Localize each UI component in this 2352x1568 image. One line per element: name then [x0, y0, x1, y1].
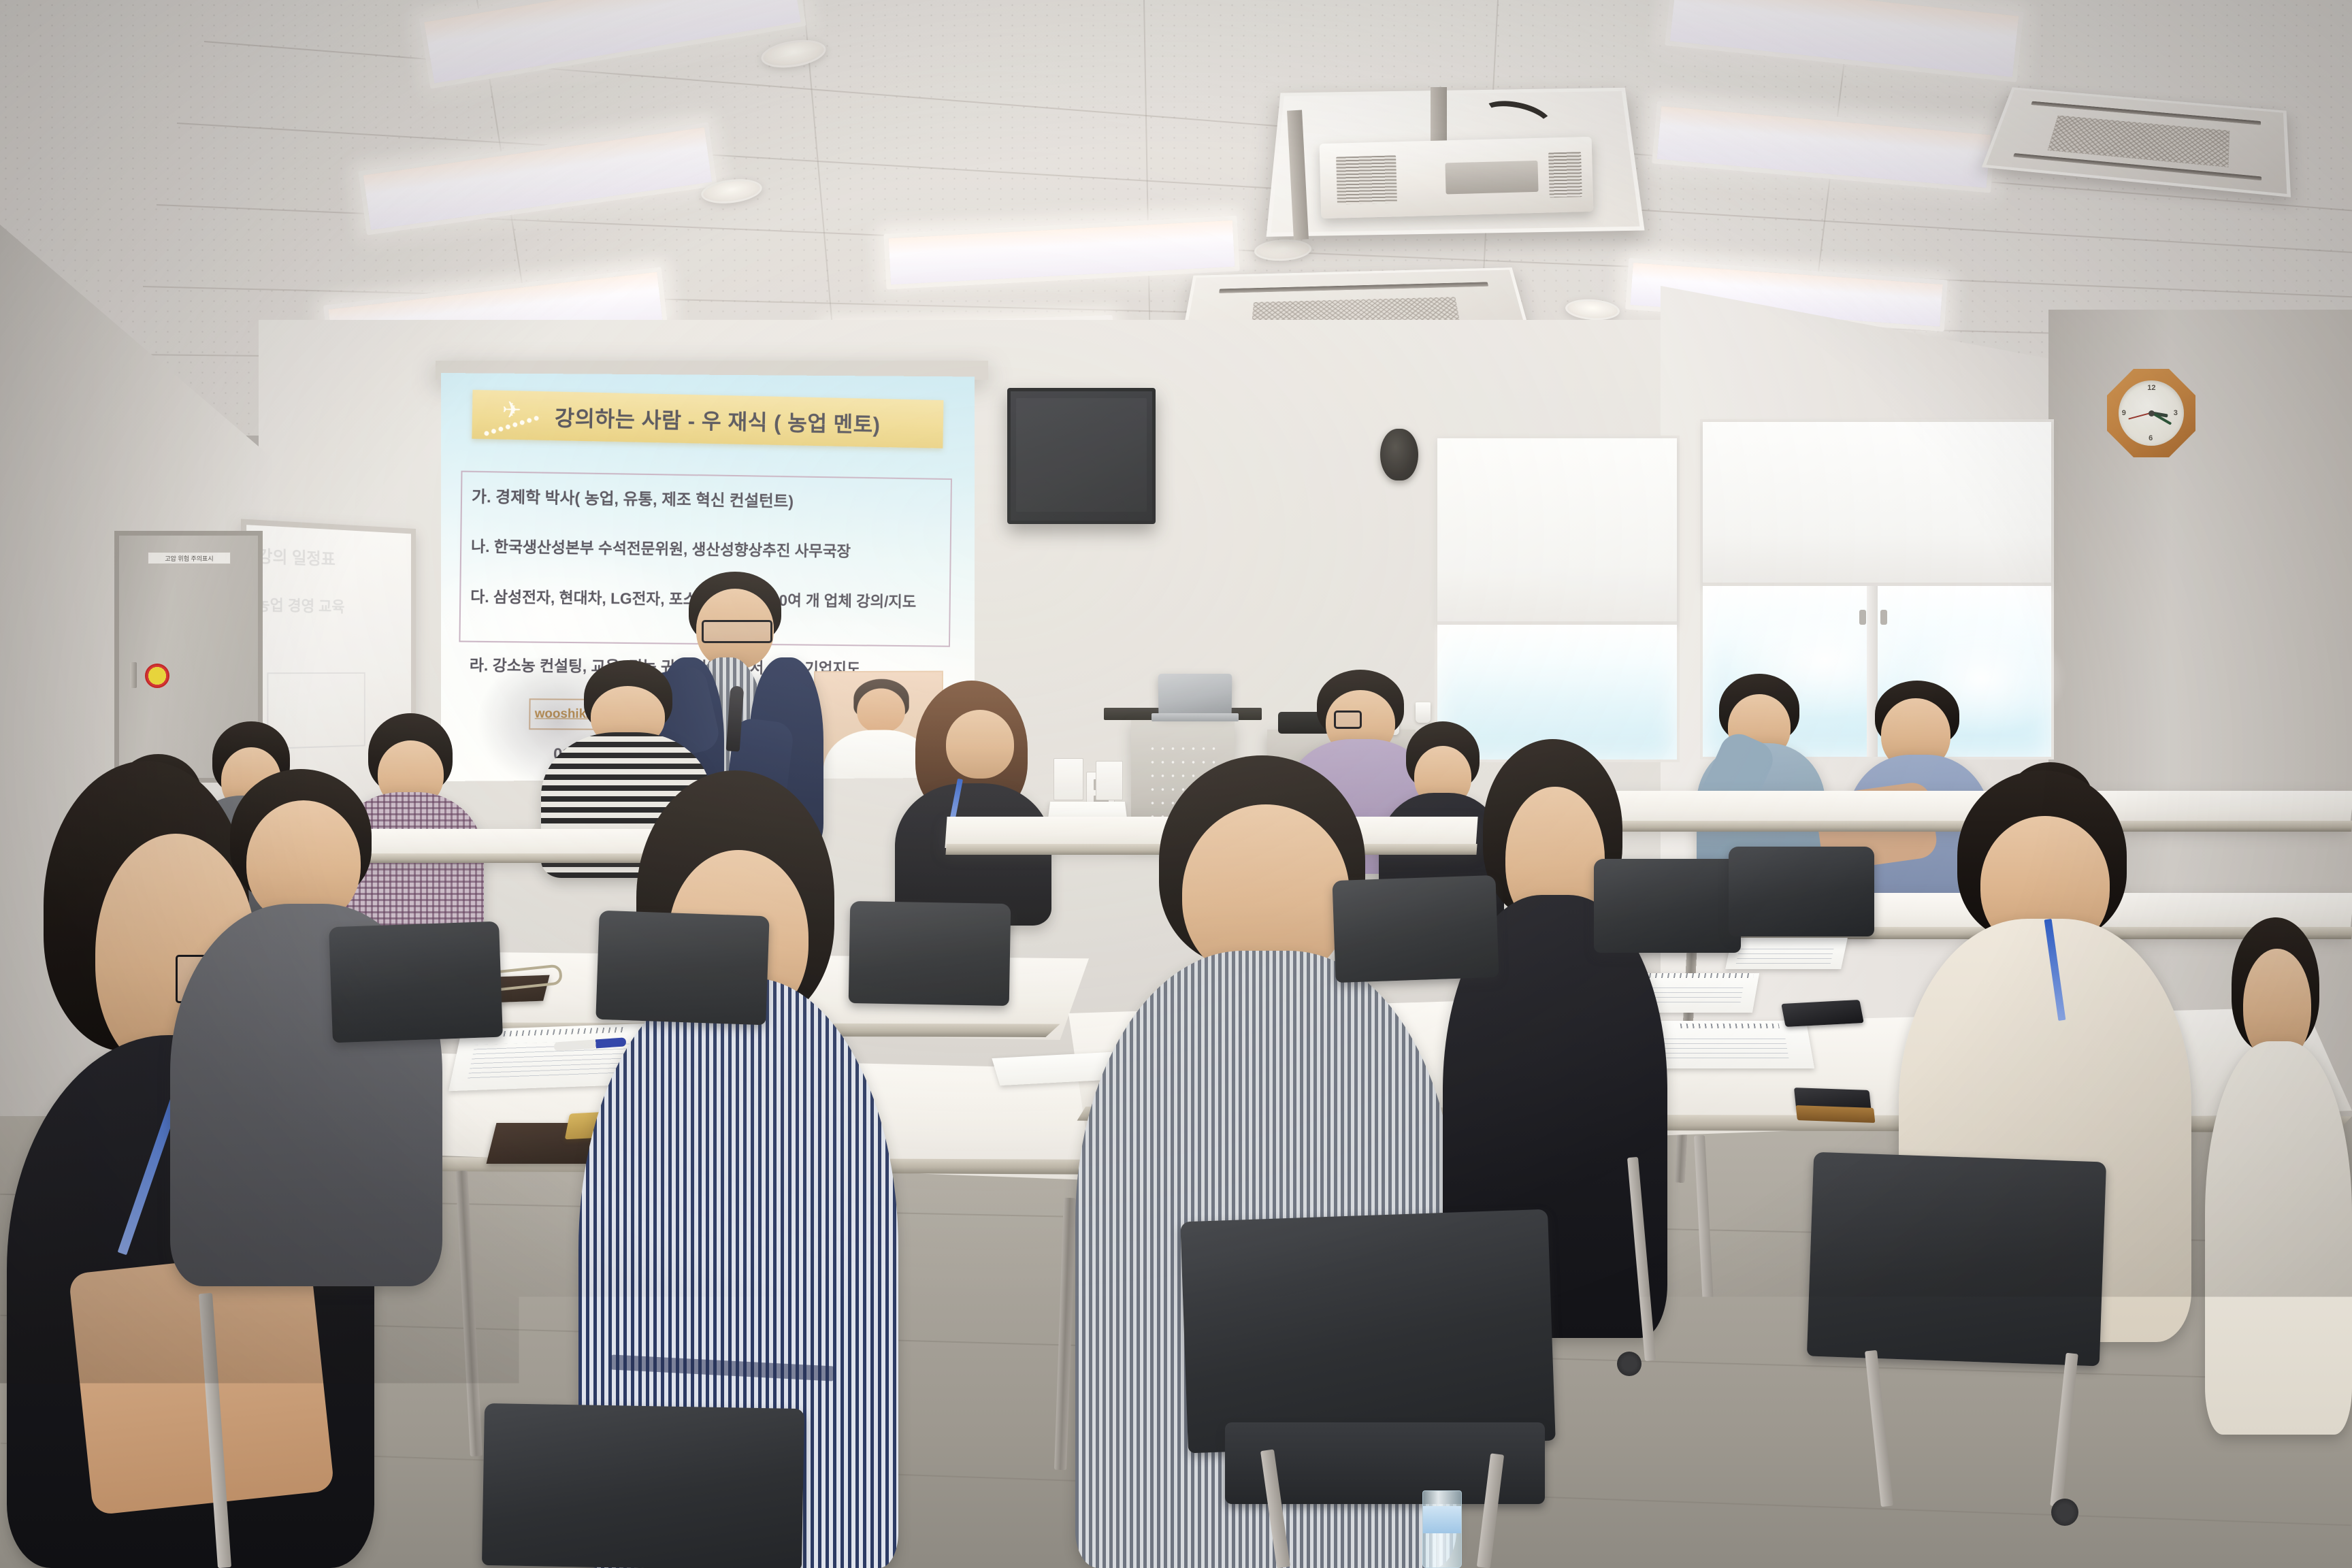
- slide-bullet: 가. 경제학 박사( 농업, 유통, 제조 혁신 컨설턴트): [472, 483, 794, 512]
- tv-screen: [1016, 398, 1146, 512]
- laptop[interactable]: [1158, 674, 1232, 716]
- window: [1435, 436, 1680, 762]
- classroom-photo: ✈ 강의하는 사람 - 우 재식 ( 농업 멘토) 가. 경제학 박사( 농업,…: [0, 0, 2352, 1568]
- eyeglasses: [702, 620, 772, 643]
- door-handle[interactable]: [130, 662, 137, 688]
- bottle-label: [1423, 1506, 1461, 1533]
- slide-banner: ✈ 강의하는 사람 - 우 재식 ( 농업 멘토): [472, 390, 943, 448]
- projector-vent: [1336, 155, 1397, 205]
- laptop-keyboard[interactable]: [1151, 713, 1239, 721]
- wall-mounted-tv: [1007, 388, 1156, 524]
- notebook: [1725, 938, 1848, 969]
- airplane-icon: ✈: [502, 399, 522, 423]
- chair[interactable]: [1332, 875, 1499, 983]
- projector-vent: [1548, 152, 1582, 197]
- whiteboard-text: 강의 일정표: [257, 542, 335, 570]
- clock-numeral: 3: [2174, 409, 2178, 417]
- attendee: [2205, 917, 2352, 1435]
- eyeglasses: [1334, 710, 1362, 729]
- attendee-torso: [2205, 1041, 2352, 1435]
- water-bottle: [1422, 1490, 1462, 1568]
- projector-ports: [1445, 161, 1538, 195]
- chair[interactable]: [1180, 1209, 1556, 1454]
- chair[interactable]: [1594, 859, 1741, 953]
- panel-label: 고압 위험 주의표시: [148, 552, 231, 564]
- slide-bullet: 나. 한국생산성본부 수석전문위원, 생산성향상추진 사무국장: [471, 534, 851, 561]
- window-blind[interactable]: [1437, 438, 1677, 625]
- chair[interactable]: [849, 901, 1011, 1006]
- attendee-arm: [68, 1249, 335, 1516]
- attendee: [892, 681, 1062, 926]
- chair-caster: [1681, 1402, 1707, 1428]
- chair[interactable]: [595, 911, 769, 1026]
- wall-speaker: [1380, 429, 1418, 480]
- chair[interactable]: [329, 921, 503, 1043]
- window-blind[interactable]: [1703, 422, 2051, 586]
- clock-numeral: 9: [2122, 409, 2126, 417]
- chair[interactable]: [1729, 847, 1874, 936]
- window-handle[interactable]: [1859, 610, 1866, 625]
- clock-face: 12 3 6 9: [2119, 380, 2184, 446]
- window-handle[interactable]: [1880, 610, 1887, 625]
- wall-clock: 12 3 6 9: [2107, 369, 2195, 457]
- whiteboard-text: 농업 경영 교육: [256, 593, 344, 617]
- clock-numeral: 12: [2147, 384, 2155, 392]
- wallet: [1796, 1105, 1876, 1123]
- chair-caster: [2051, 1499, 2078, 1526]
- chair[interactable]: [1807, 1152, 2106, 1367]
- chair[interactable]: [482, 1403, 804, 1568]
- warning-sticker: [145, 664, 169, 688]
- slide-title: 강의하는 사람 - 우 재식 ( 농업 멘토): [555, 401, 881, 439]
- smartphone[interactable]: [1781, 1000, 1864, 1027]
- chair-caster: [1617, 1352, 1641, 1376]
- clock-numeral: 6: [2149, 434, 2153, 442]
- projector: [1320, 137, 1594, 218]
